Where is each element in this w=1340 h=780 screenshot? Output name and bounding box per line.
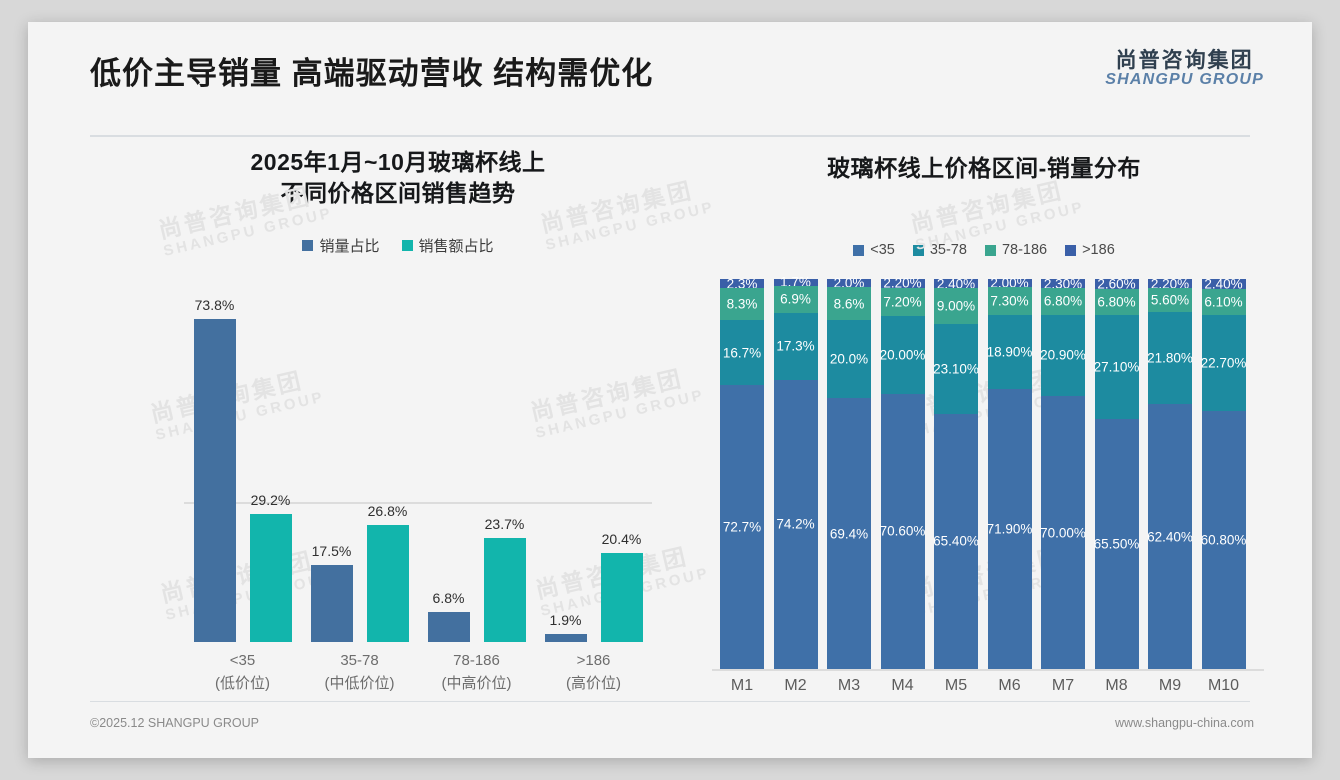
- legend-swatch-icon: [402, 240, 413, 251]
- stack-segment[interactable]: 70.60%: [881, 394, 925, 669]
- stacked-bar[interactable]: 2.00%7.30%18.90%71.90%: [988, 279, 1032, 669]
- bar-rect[interactable]: [601, 553, 643, 642]
- bar-value-label: 29.2%: [251, 492, 291, 508]
- right-month-axis-labels: M1M2M3M4M5M6M7M8M9M10: [712, 677, 1264, 707]
- legend-swatch-icon: [1065, 245, 1076, 256]
- brand-logo: 尚普咨询集团 SHANGPU GROUP: [1105, 50, 1264, 89]
- bar-group: 73.8%29.2%: [184, 292, 301, 642]
- stack-segment[interactable]: 6.80%: [1041, 288, 1085, 315]
- logo-chinese-text: 尚普咨询集团: [1105, 50, 1264, 72]
- right-chart-legend: <3535-7878-186>186: [704, 242, 1264, 258]
- bar-rect[interactable]: [311, 565, 353, 642]
- slide-canvas: 尚普咨询集团 SHANGPU GROUP 尚普咨询集团 SHANGPU GROU…: [28, 22, 1312, 758]
- stacked-bar[interactable]: 2.40%9.00%23.10%65.40%: [934, 279, 978, 669]
- bar-value-label: 1.9%: [550, 612, 582, 628]
- stack-segment[interactable]: 20.00%: [881, 316, 925, 394]
- segment-value-label: 6.9%: [780, 292, 811, 307]
- stack-segment[interactable]: 2.20%: [1148, 279, 1192, 288]
- segment-value-label: 23.10%: [933, 361, 979, 376]
- stack-segment[interactable]: 74.2%: [774, 380, 818, 669]
- segment-value-label: 17.3%: [776, 339, 814, 354]
- month-label: M8: [1091, 677, 1143, 695]
- stack-segment[interactable]: 2.20%: [881, 279, 925, 288]
- left-chart-title: 2025年1月~10月玻璃杯线上 不同价格区间销售趋势: [98, 147, 698, 209]
- bar-item[interactable]: 29.2%: [250, 292, 292, 642]
- legend-swatch-icon: [853, 245, 864, 256]
- stack-segment[interactable]: 72.7%: [720, 385, 764, 669]
- bar-rect[interactable]: [250, 514, 292, 642]
- stack-segment[interactable]: 70.00%: [1041, 396, 1085, 669]
- bar-rect[interactable]: [367, 525, 409, 642]
- stack-segment[interactable]: 60.80%: [1202, 411, 1246, 669]
- legend-swatch-icon: [302, 240, 313, 251]
- stack-segment[interactable]: 65.40%: [934, 414, 978, 669]
- stack-segment[interactable]: 9.00%: [934, 288, 978, 323]
- category-label-sub: (中高价位): [418, 672, 535, 695]
- segment-value-label: 65.40%: [933, 534, 979, 549]
- bar-value-label: 26.8%: [368, 503, 408, 519]
- stack-segment[interactable]: 8.3%: [720, 288, 764, 320]
- segment-value-label: 5.60%: [1151, 293, 1189, 308]
- stacked-bar[interactable]: 1.7%6.9%17.3%74.2%: [774, 279, 818, 669]
- stacked-bar[interactable]: 2.3%8.3%16.7%72.7%: [720, 279, 764, 669]
- month-label: M2: [770, 677, 822, 695]
- stack-segment[interactable]: 69.4%: [827, 398, 871, 669]
- legend-label: 销售额占比: [419, 235, 494, 256]
- left-chart-legend: 销量占比 销售额占比: [98, 235, 698, 256]
- legend-item-78-186[interactable]: 78-186: [985, 242, 1047, 258]
- segment-value-label: 6.80%: [1097, 294, 1135, 309]
- stack-segment[interactable]: 71.90%: [988, 389, 1032, 669]
- stack-segment[interactable]: 8.6%: [827, 287, 871, 321]
- legend-label: >186: [1082, 242, 1115, 258]
- stack-segment[interactable]: 6.10%: [1202, 289, 1246, 315]
- header-divider: [90, 135, 1250, 137]
- category-label: 78-186(中高价位): [418, 649, 535, 696]
- bar-item[interactable]: 23.7%: [484, 292, 526, 642]
- bar-rect[interactable]: [545, 634, 587, 642]
- segment-value-label: 6.10%: [1204, 295, 1242, 310]
- segment-value-label: 72.7%: [723, 520, 761, 535]
- segment-value-label: 20.0%: [830, 352, 868, 367]
- stacked-bar[interactable]: 2.20%7.20%20.00%70.60%: [881, 279, 925, 669]
- segment-value-label: 18.90%: [987, 345, 1033, 360]
- segment-value-label: 71.90%: [987, 521, 1033, 536]
- segment-value-label: 20.90%: [1040, 348, 1086, 363]
- segment-value-label: 22.70%: [1201, 356, 1247, 371]
- stack-segment[interactable]: 2.3%: [720, 279, 764, 288]
- slide-header: 低价主导销量 高端驱动营收 结构需优化 尚普咨询集团 SHANGPU GROUP: [28, 22, 1312, 118]
- segment-value-label: 70.60%: [880, 524, 926, 539]
- bar-item[interactable]: 26.8%: [367, 292, 409, 642]
- segment-value-label: 8.6%: [834, 296, 865, 311]
- month-label: M1: [716, 677, 768, 695]
- bar-rect[interactable]: [194, 319, 236, 642]
- stack-segment[interactable]: 22.70%: [1202, 315, 1246, 411]
- left-grouped-bar-plot: 73.8%29.2%17.5%26.8%6.8%23.7%1.9%20.4%: [98, 287, 698, 647]
- left-category-axis-labels: <35(低价位)35-78(中低价位)78-186(中高价位)>186(高价位): [98, 649, 698, 705]
- segment-value-label: 7.20%: [883, 294, 921, 309]
- legend-swatch-icon: [985, 245, 996, 256]
- segment-value-label: 70.00%: [1040, 525, 1086, 540]
- right-axis-line: [712, 669, 1264, 671]
- bar-value-label: 73.8%: [195, 297, 235, 313]
- stack-segment[interactable]: 20.90%: [1041, 315, 1085, 397]
- right-stacked-bar-plot: 2.3%8.3%16.7%72.7%1.7%6.9%17.3%74.2%2.0%…: [712, 279, 1264, 669]
- bar-value-label: 6.8%: [433, 590, 465, 606]
- stacked-bar[interactable]: 2.20%5.60%21.80%62.40%: [1148, 279, 1192, 669]
- legend-label: 78-186: [1002, 242, 1047, 258]
- segment-value-label: 6.80%: [1044, 294, 1082, 309]
- category-label-main: <35: [184, 649, 301, 672]
- category-label: <35(低价位): [184, 649, 301, 696]
- segment-value-label: 27.10%: [1094, 359, 1140, 374]
- stack-segment[interactable]: 20.0%: [827, 320, 871, 398]
- stack-segment[interactable]: 6.80%: [1095, 289, 1139, 315]
- month-label: M7: [1037, 677, 1089, 695]
- segment-value-label: 62.40%: [1147, 529, 1193, 544]
- legend-item-revenue[interactable]: 销售额占比: [402, 235, 494, 256]
- logo-english-text: SHANGPU GROUP: [1105, 72, 1264, 89]
- segment-value-label: 21.80%: [1147, 351, 1193, 366]
- bar-rect[interactable]: [484, 538, 526, 642]
- bar-group: 1.9%20.4%: [535, 292, 652, 642]
- segment-value-label: 16.7%: [723, 345, 761, 360]
- stack-segment[interactable]: 62.40%: [1148, 404, 1192, 669]
- stack-segment[interactable]: 1.7%: [774, 279, 818, 286]
- stack-segment[interactable]: 2.40%: [934, 279, 978, 288]
- month-label: M9: [1144, 677, 1196, 695]
- stack-segment[interactable]: 23.10%: [934, 324, 978, 414]
- left-chart-panel: 2025年1月~10月玻璃杯线上 不同价格区间销售趋势 销量占比 销售额占比 7…: [98, 147, 698, 707]
- stack-segment[interactable]: 5.60%: [1148, 288, 1192, 312]
- stack-segment[interactable]: 18.90%: [988, 315, 1032, 389]
- stack-segment[interactable]: 7.30%: [988, 287, 1032, 315]
- category-label-main: 35-78: [301, 649, 418, 672]
- bar-value-label: 23.7%: [485, 516, 525, 532]
- segment-value-label: 74.2%: [776, 517, 814, 532]
- bar-item[interactable]: 17.5%: [311, 292, 353, 642]
- stack-segment[interactable]: 2.40%: [1202, 279, 1246, 289]
- category-label: 35-78(中低价位): [301, 649, 418, 696]
- stacked-bar[interactable]: 2.60%6.80%27.10%65.50%: [1095, 279, 1139, 669]
- left-chart-title-line1: 2025年1月~10月玻璃杯线上: [98, 147, 698, 178]
- legend-item-35-78[interactable]: 35-78: [913, 242, 967, 258]
- right-chart-title: 玻璃杯线上价格区间-销量分布: [704, 147, 1264, 184]
- segment-value-label: 65.50%: [1094, 536, 1140, 551]
- category-label-main: >186: [535, 649, 652, 672]
- category-label-main: 78-186: [418, 649, 535, 672]
- segment-value-label: 7.30%: [990, 294, 1028, 309]
- left-chart-title-line2: 不同价格区间销售趋势: [98, 178, 698, 209]
- bar-item[interactable]: 1.9%: [545, 292, 587, 642]
- bar-item[interactable]: 73.8%: [194, 292, 236, 642]
- segment-value-label: 69.4%: [830, 526, 868, 541]
- stack-segment[interactable]: 6.9%: [774, 286, 818, 313]
- right-chart-panel: 玻璃杯线上价格区间-销量分布 <3535-7878-186>186 2.3%8.…: [704, 147, 1264, 707]
- stacked-bar[interactable]: 2.0%8.6%20.0%69.4%: [827, 279, 871, 669]
- legend-label: 35-78: [930, 242, 967, 258]
- stack-segment[interactable]: 16.7%: [720, 320, 764, 385]
- category-label-sub: (低价位): [184, 672, 301, 695]
- segment-value-label: 8.3%: [727, 297, 758, 312]
- stack-segment[interactable]: 7.20%: [881, 288, 925, 316]
- footer-website: www.shangpu-china.com: [1115, 716, 1254, 730]
- bar-value-label: 17.5%: [312, 543, 352, 559]
- legend-item-186[interactable]: >186: [1065, 242, 1115, 258]
- legend-label: <35: [870, 242, 895, 258]
- stack-segment[interactable]: 2.00%: [988, 279, 1032, 287]
- stack-segment[interactable]: 21.80%: [1148, 312, 1192, 404]
- page-title: 低价主导销量 高端驱动营收 结构需优化: [90, 48, 653, 93]
- stack-segment[interactable]: 2.30%: [1041, 279, 1085, 288]
- category-label-sub: (高价位): [535, 672, 652, 695]
- stack-segment[interactable]: 65.50%: [1095, 419, 1139, 669]
- stacked-bar[interactable]: 2.40%6.10%22.70%60.80%: [1202, 279, 1246, 669]
- month-label: M5: [930, 677, 982, 695]
- legend-item-35[interactable]: <35: [853, 242, 895, 258]
- stack-segment[interactable]: 2.0%: [827, 279, 871, 287]
- stacked-bar[interactable]: 2.30%6.80%20.90%70.00%: [1041, 279, 1085, 669]
- segment-value-label: 20.00%: [880, 347, 926, 362]
- bar-group: 17.5%26.8%: [301, 292, 418, 642]
- bar-value-label: 20.4%: [602, 531, 642, 547]
- bar-group: 6.8%23.7%: [418, 292, 535, 642]
- stack-segment[interactable]: 17.3%: [774, 313, 818, 380]
- stack-segment[interactable]: 27.10%: [1095, 315, 1139, 419]
- bar-item[interactable]: 20.4%: [601, 292, 643, 642]
- segment-value-label: 60.80%: [1201, 533, 1247, 548]
- legend-swatch-icon: [913, 245, 924, 256]
- month-label: M3: [823, 677, 875, 695]
- stack-segment[interactable]: 2.60%: [1095, 279, 1139, 289]
- legend-label: 销量占比: [319, 235, 379, 256]
- month-label: M10: [1198, 677, 1250, 695]
- footer-copyright: ©2025.12 SHANGPU GROUP: [90, 716, 259, 730]
- month-label: M4: [877, 677, 929, 695]
- bar-rect[interactable]: [428, 612, 470, 642]
- bar-item[interactable]: 6.8%: [428, 292, 470, 642]
- legend-item-volume[interactable]: 销量占比: [302, 235, 379, 256]
- category-label: >186(高价位): [535, 649, 652, 696]
- category-label-sub: (中低价位): [301, 672, 418, 695]
- segment-value-label: 9.00%: [937, 298, 975, 313]
- month-label: M6: [984, 677, 1036, 695]
